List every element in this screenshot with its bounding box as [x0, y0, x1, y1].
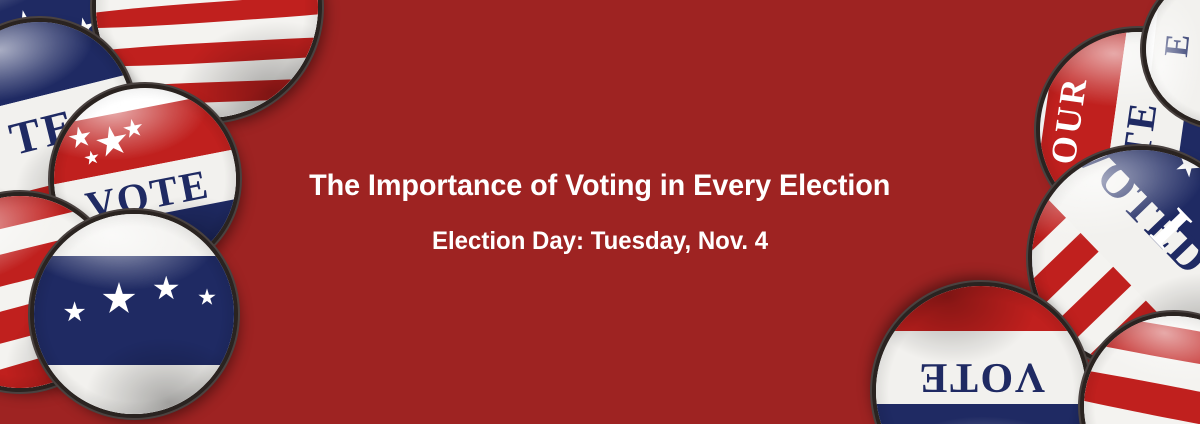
vote-badge-bottom-left: VO — [24, 204, 244, 424]
vote-badge-right-edge: E — [1139, 0, 1200, 131]
voting-banner: OTE TE — [0, 0, 1200, 424]
badge-face: VO — [24, 204, 244, 424]
election-day-subtitle: Election Day: Tuesday, Nov. 4 — [432, 228, 768, 256]
badge-face: E — [1139, 0, 1200, 131]
page-title: The Importance of Voting in Every Electi… — [309, 169, 890, 202]
